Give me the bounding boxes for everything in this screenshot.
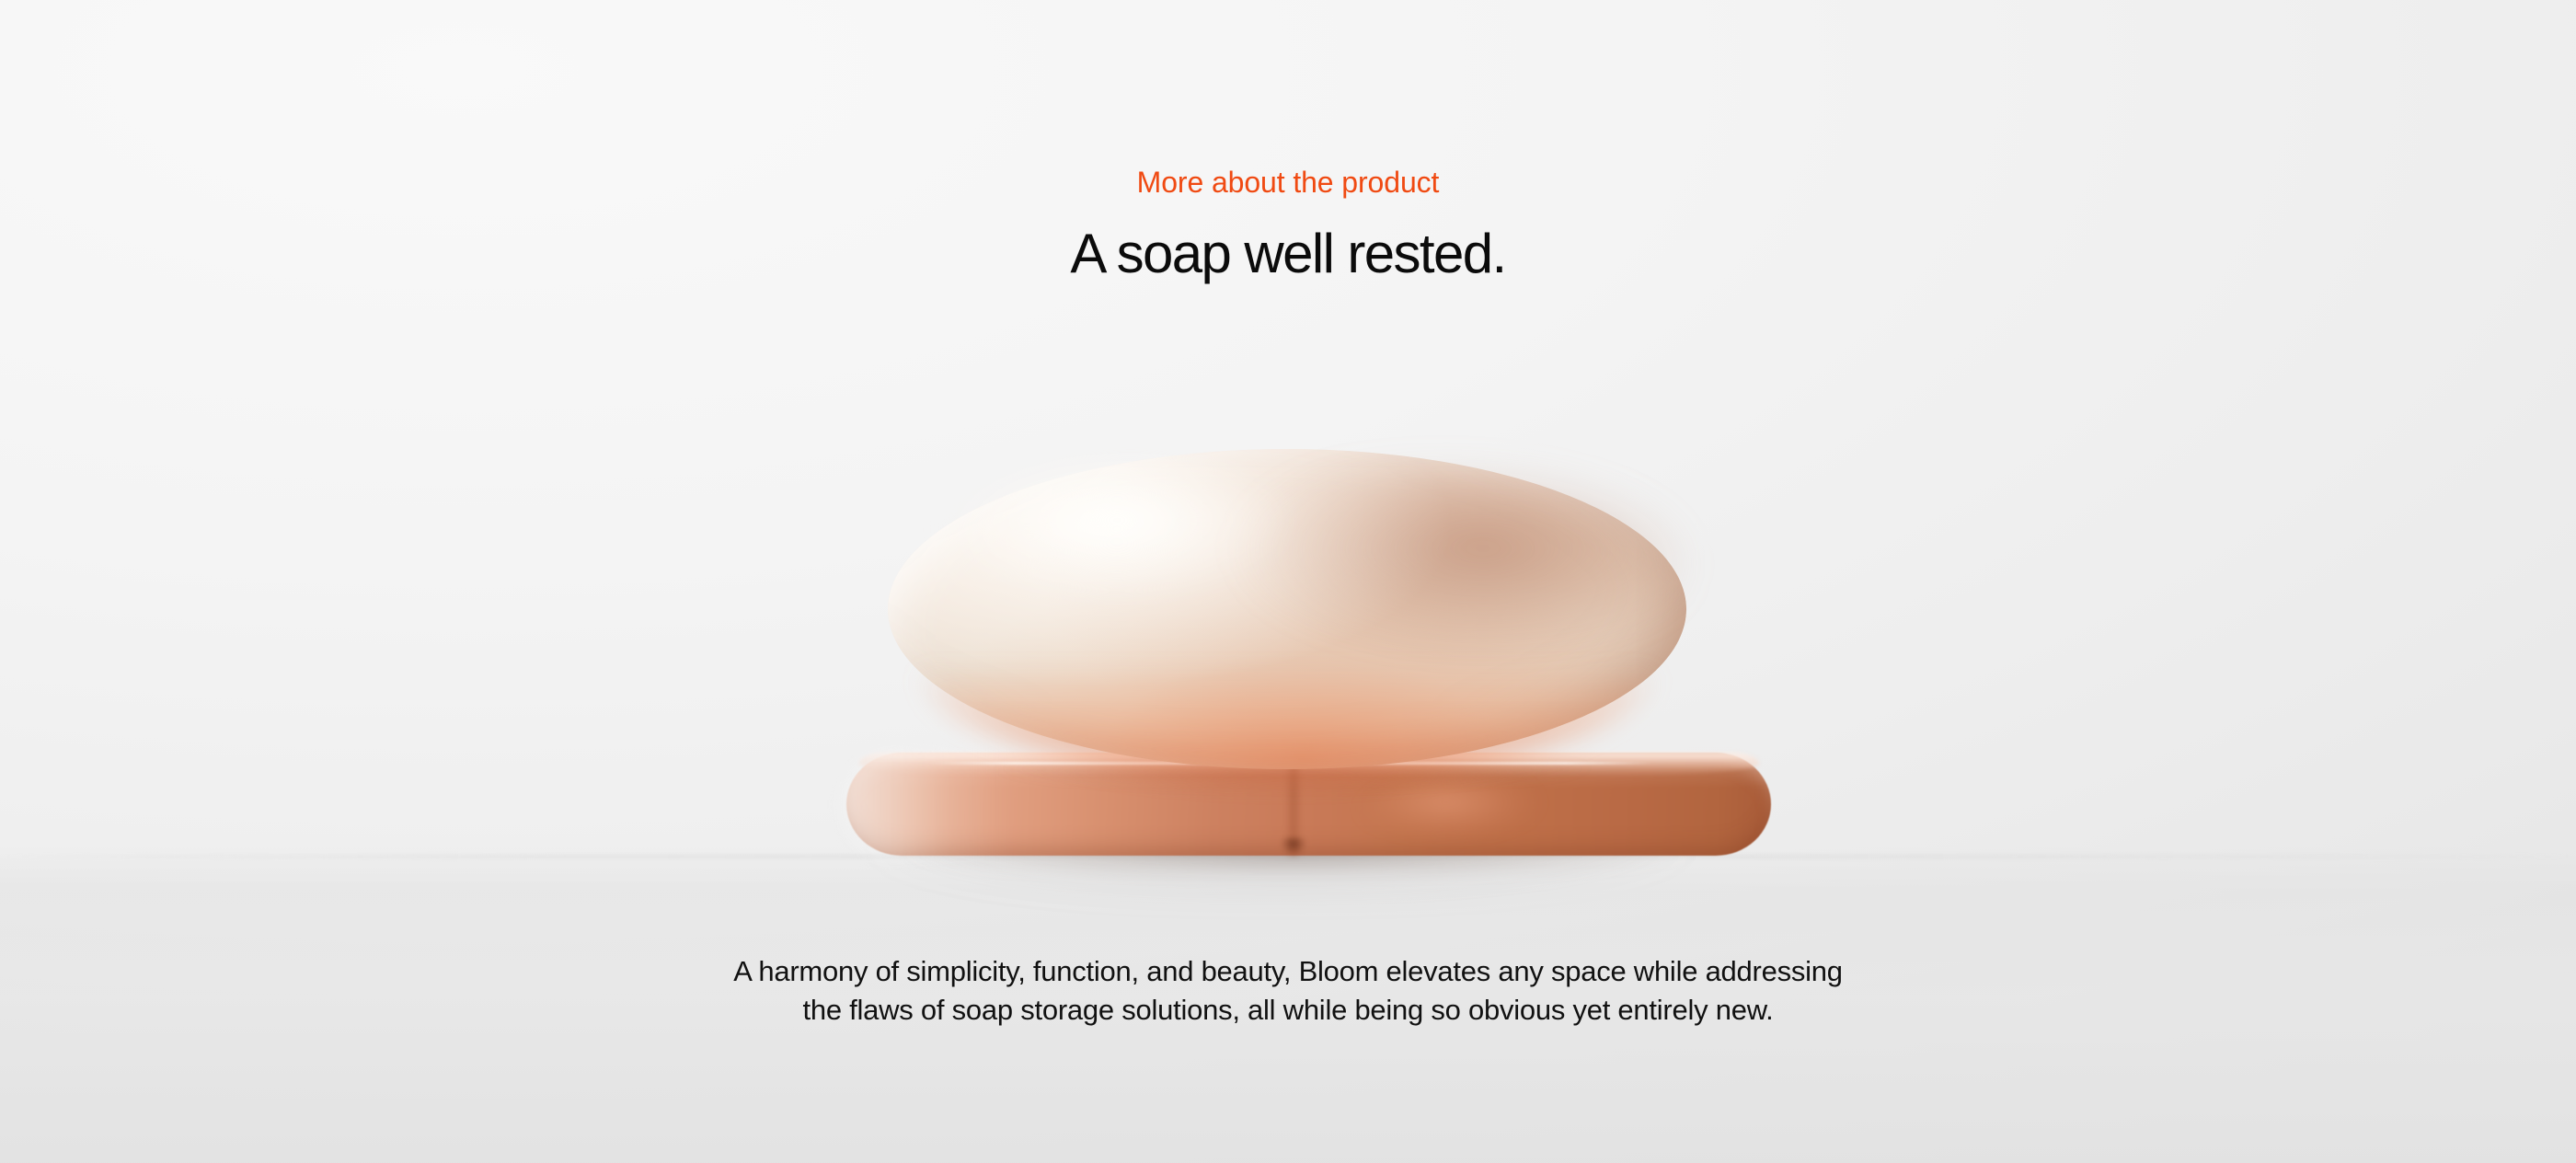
product-feature-section: More about the product A soap well reste… [0, 0, 2576, 1163]
soap-bar-highlight [943, 464, 1339, 620]
soap-dish-center-notch [1278, 837, 1309, 859]
section-description: A harmony of simplicity, function, and b… [446, 952, 2130, 1030]
section-description-line-1: A harmony of simplicity, function, and b… [446, 952, 2130, 991]
section-description-line-2: the flaws of soap storage solutions, all… [446, 991, 2130, 1030]
product-image [810, 423, 1766, 883]
soap-bar-bounce-light [919, 668, 1655, 778]
section-eyebrow: More about the product [0, 164, 2576, 201]
soap-bar [888, 449, 1686, 769]
page-title: A soap well rested. [0, 223, 2576, 284]
